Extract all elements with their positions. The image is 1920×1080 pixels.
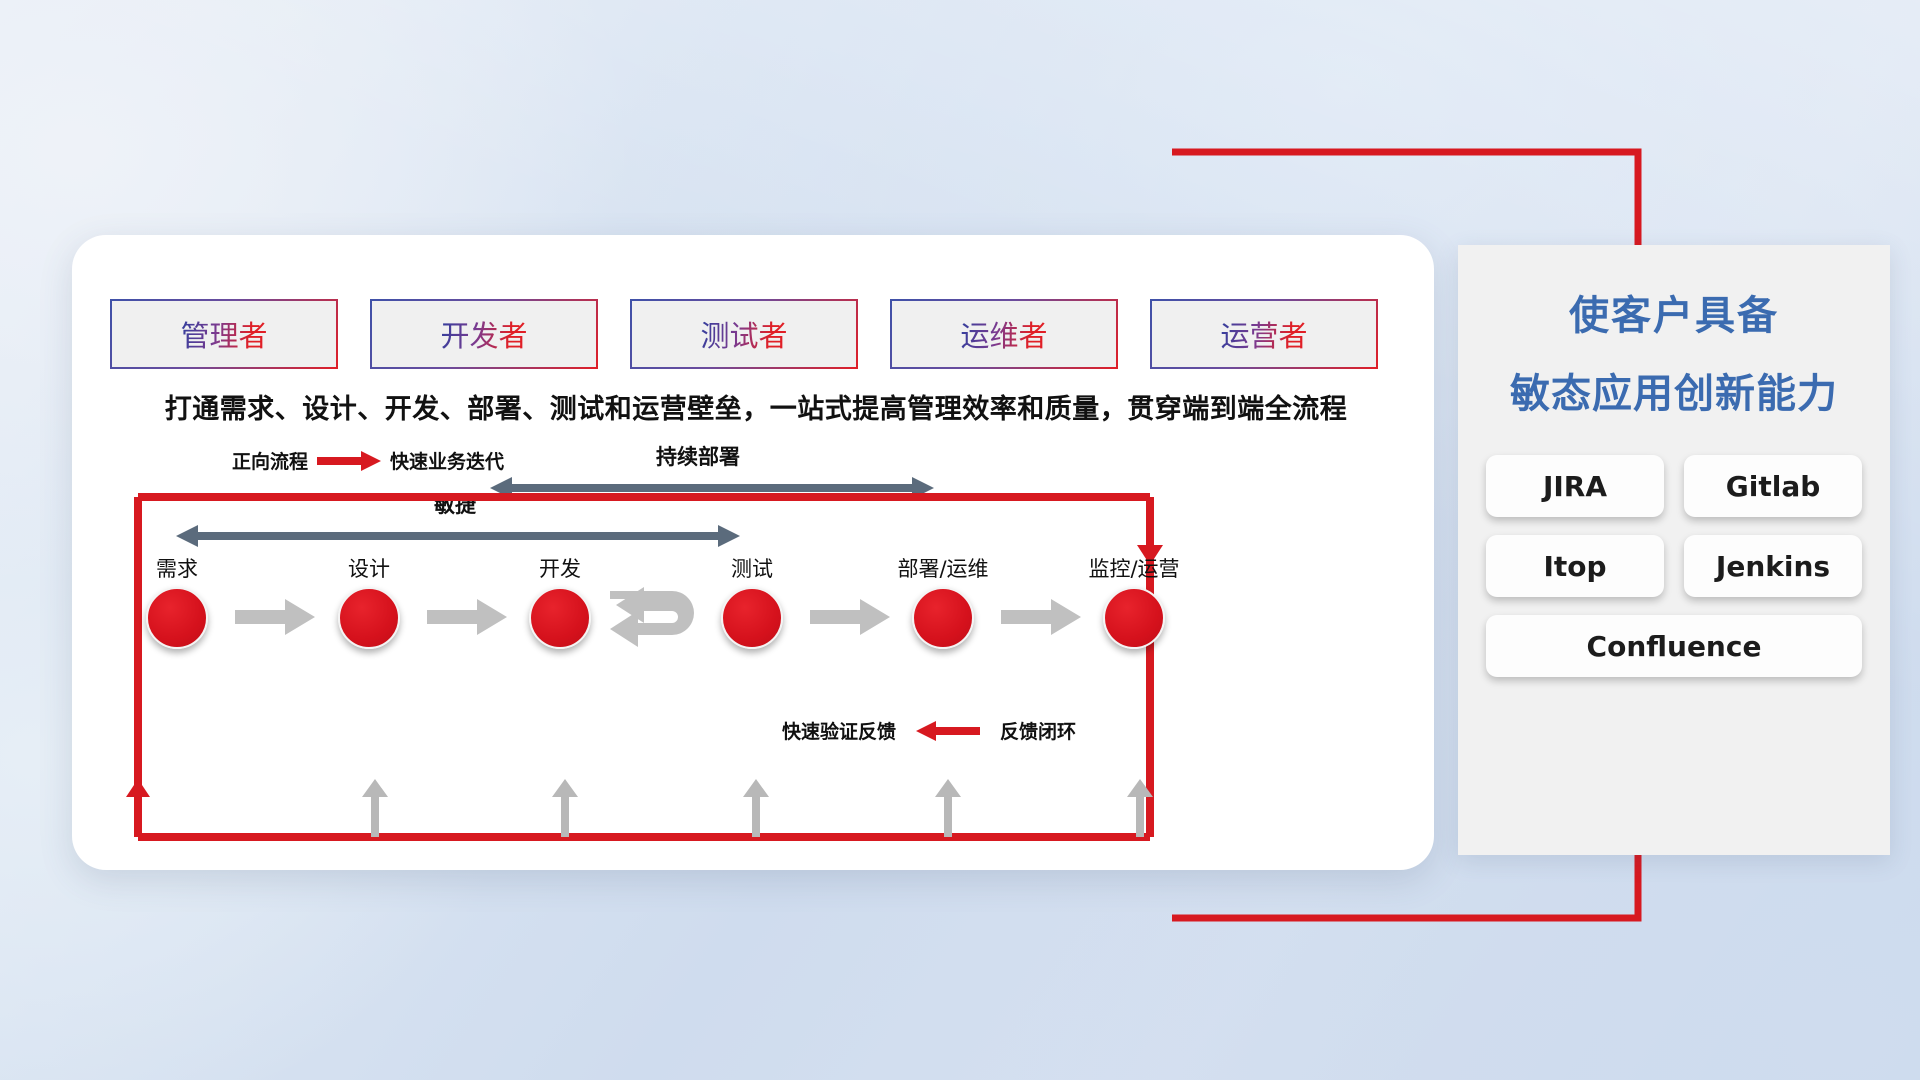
role-box-operations[interactable]: 运营者	[1150, 299, 1378, 369]
devops-card: 管理者 开发者 测试者 运维者 运营者 打通需求、设计、开发、部署、测试和运营壁…	[72, 235, 1434, 870]
role-label: 开发者	[440, 313, 527, 355]
role-box-row: 管理者 开发者 测试者 运维者 运营者	[110, 299, 1378, 369]
card-subtitle: 打通需求、设计、开发、部署、测试和运营壁垒，一站式提高管理效率和质量，贯穿端到端…	[106, 387, 1406, 426]
stage-label: 设计	[309, 553, 429, 583]
stage-design[interactable]: 设计	[309, 553, 429, 649]
role-label: 管理者	[180, 313, 267, 355]
stage-label: 开发	[500, 553, 620, 583]
stage-dot	[529, 587, 591, 649]
stage-dot	[1103, 587, 1165, 649]
flow-arrow-4	[1001, 599, 1081, 635]
stage-label: 需求	[117, 553, 237, 583]
role-label: 测试者	[700, 313, 787, 355]
stage-dot	[721, 587, 783, 649]
stage-dot	[912, 587, 974, 649]
stage-label: 测试	[692, 553, 812, 583]
role-label: 运维者	[960, 313, 1047, 355]
legend-feedback-loop: 快速验证反馈 反馈闭环	[782, 717, 1076, 744]
value-proposition-panel: 使客户具备 敏态应用创新能力 JIRA Gitlab Itop Jenkins …	[1458, 245, 1890, 855]
stage-testing[interactable]: 测试	[692, 553, 812, 649]
stage-label: 部署/运维	[883, 553, 1003, 583]
flow-arrow-2	[427, 599, 507, 635]
stage-requirements[interactable]: 需求	[117, 553, 237, 649]
role-box-ops[interactable]: 运维者	[890, 299, 1118, 369]
role-box-developer[interactable]: 开发者	[370, 299, 598, 369]
role-box-manager[interactable]: 管理者	[110, 299, 338, 369]
tool-chip-gitlab[interactable]: Gitlab	[1684, 455, 1862, 517]
left-arrow-icon	[916, 721, 980, 741]
flow-arrow-1	[235, 599, 315, 635]
stage-monitor-operations[interactable]: 监控/运营	[1074, 553, 1194, 649]
tool-chip-list: JIRA Gitlab Itop Jenkins Confluence	[1458, 455, 1890, 677]
stage-deploy-ops[interactable]: 部署/运维	[883, 553, 1003, 649]
dev-test-loop-arrow	[610, 587, 702, 649]
panel-heading-line2: 敏态应用创新能力	[1458, 361, 1890, 419]
stage-dot	[338, 587, 400, 649]
stage-development[interactable]: 开发	[500, 553, 620, 649]
flow-arrow-3	[810, 599, 890, 635]
stage-label: 监控/运营	[1074, 553, 1194, 583]
tool-chip-itop[interactable]: Itop	[1486, 535, 1664, 597]
stage-dot	[146, 587, 208, 649]
tool-chip-jira[interactable]: JIRA	[1486, 455, 1664, 517]
role-label: 运营者	[1220, 313, 1307, 355]
tool-chip-jenkins[interactable]: Jenkins	[1684, 535, 1862, 597]
role-box-tester[interactable]: 测试者	[630, 299, 858, 369]
tool-chip-confluence[interactable]: Confluence	[1486, 615, 1862, 677]
legend-feedback-right-label: 反馈闭环	[1000, 717, 1076, 744]
panel-heading-line1: 使客户具备	[1458, 283, 1890, 341]
legend-feedback-left-label: 快速验证反馈	[782, 717, 896, 744]
